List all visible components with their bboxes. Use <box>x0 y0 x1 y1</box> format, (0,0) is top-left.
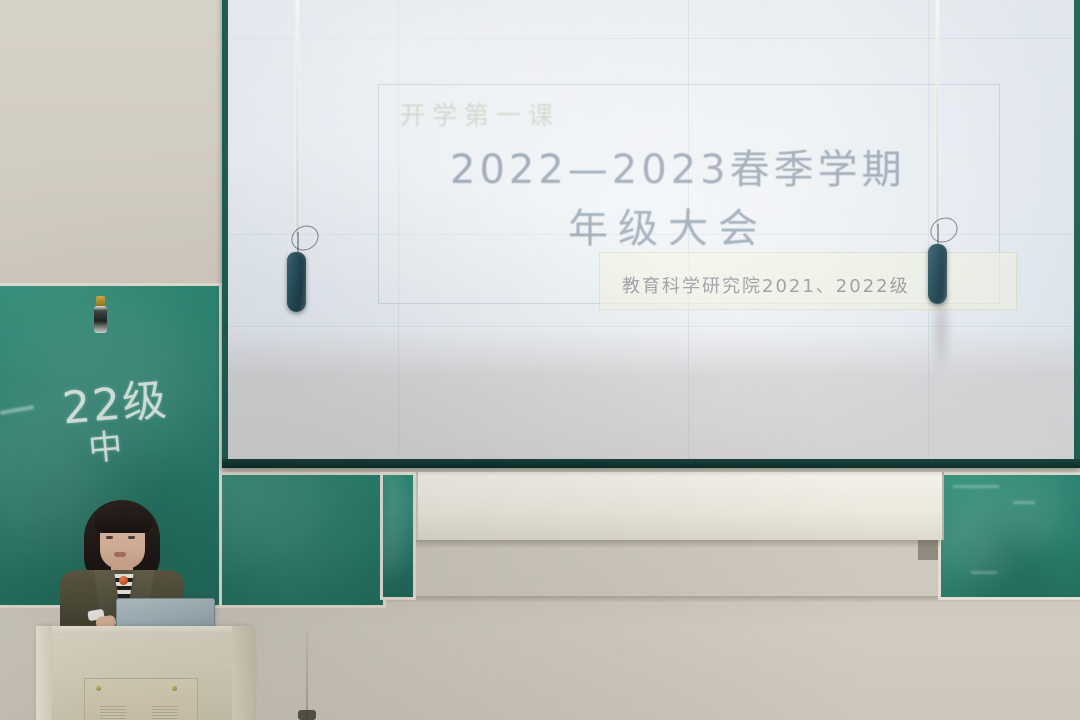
podium-microphone-stem <box>306 630 308 720</box>
microphone-shadow <box>930 296 952 374</box>
speaker-fringe <box>94 506 152 533</box>
slide-organization-text: 教育科学研究院2021、2022级 <box>622 272 910 298</box>
speaker-eye-right <box>128 536 135 539</box>
podium-vent-right <box>152 706 178 720</box>
speaker-brooch <box>119 576 128 585</box>
speaker-mouth <box>114 552 126 557</box>
chalkboard-strip <box>380 472 416 600</box>
microphone-right[interactable] <box>928 244 947 304</box>
panel-notch <box>918 540 938 560</box>
podium-microphone-base[interactable] <box>298 710 316 720</box>
slide-title-line2: 年级大会 <box>568 196 768 254</box>
microphone-left[interactable] <box>287 252 306 312</box>
podium-top-surface <box>36 626 254 635</box>
classroom-photo: 22级 中 开学第一课 2022—2023春季学期 年级大会 教育科学研究院20… <box>0 0 1080 720</box>
podium-right-wing <box>232 626 254 720</box>
microphone-cable-right <box>936 0 939 228</box>
podium-screw-right <box>172 686 177 691</box>
podium-vent-left <box>100 706 126 720</box>
podium-left-wing <box>36 626 52 720</box>
board-clip-icon <box>94 306 107 333</box>
podium-screw-left <box>96 686 101 691</box>
chalk-text-zhong: 中 <box>86 419 124 471</box>
slide-kicker-text: 开学第一课 <box>400 96 560 132</box>
chalkboard-right-panel <box>938 472 1080 600</box>
microphone-cable-left <box>296 0 299 236</box>
under-panel-shadow <box>416 540 940 548</box>
slide-title-line1: 2022—2023春季学期 <box>450 137 906 195</box>
under-screen-panel <box>416 472 944 540</box>
speaker-eye-left <box>106 536 113 539</box>
